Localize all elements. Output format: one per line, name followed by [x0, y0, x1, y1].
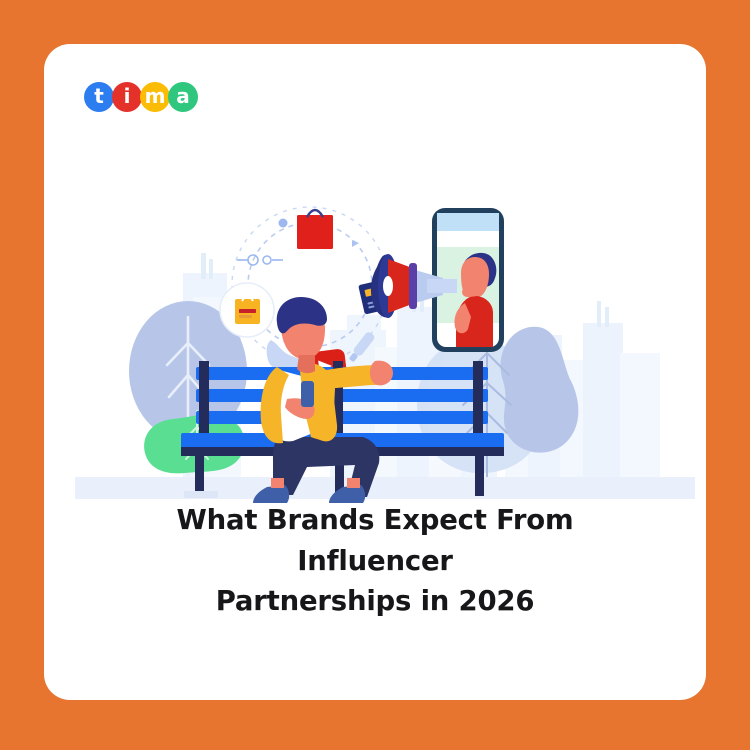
red-shopping-bag-icon — [297, 210, 333, 249]
logo-letter-t-text: t — [94, 86, 104, 106]
logo-letter-a-text: a — [176, 86, 190, 106]
logo-letter-i-text: i — [124, 86, 131, 106]
logo-letter-m-text: m — [145, 86, 166, 106]
ground-strip — [75, 477, 695, 499]
hero-illustration — [75, 175, 695, 505]
page-title: What Brands Expect From Influencer Partn… — [104, 500, 646, 622]
logo-letter-i: i — [112, 82, 142, 112]
logo-letter-m: m — [140, 82, 170, 112]
brand-logo[interactable]: t i m a — [84, 82, 196, 112]
logo-letter-t: t — [84, 82, 114, 112]
buy-now-bag-icon — [220, 283, 274, 337]
content-card: t i m a — [44, 44, 706, 700]
logo-letter-a: a — [168, 82, 198, 112]
poster-canvas: t i m a — [0, 0, 750, 750]
page-title-line-2: Partnerships in 2026 — [104, 581, 646, 622]
page-title-line-1: What Brands Expect From Influencer — [177, 504, 574, 577]
